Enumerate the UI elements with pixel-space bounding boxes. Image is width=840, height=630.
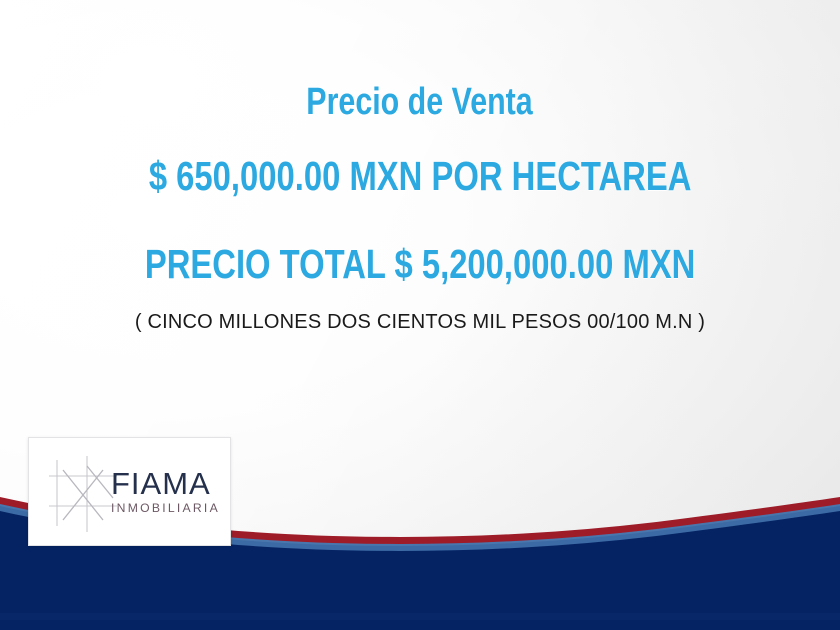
logo-brand-text: FIAMA	[111, 468, 229, 499]
price-in-words: ( CINCO MILLONES DOS CIENTOS MIL PESOS 0…	[0, 308, 840, 336]
crossed-lines-abstract-mark-icon	[47, 454, 121, 532]
slide-canvas: Precio de Venta $ 650,000.00 MXN POR HEC…	[0, 0, 840, 630]
price-per-hectare: $ 650,000.00 MXN POR HECTAREA	[0, 152, 840, 200]
price-total-text: PRECIO TOTAL $ 5,200,000.00 MXN	[145, 240, 696, 288]
logo-wordmark: FIAMA INMOBILIARIA	[111, 468, 229, 515]
logo-inner: FIAMA INMOBILIARIA	[29, 438, 230, 545]
logo-tagline-text: INMOBILIARIA	[111, 501, 229, 515]
logo-card: FIAMA INMOBILIARIA	[28, 437, 231, 546]
price-total: PRECIO TOTAL $ 5,200,000.00 MXN	[0, 240, 840, 288]
background-highlight-top-left	[0, 0, 360, 250]
wave-lighter-band	[0, 613, 840, 620]
page-title-text: Precio de Venta	[307, 80, 533, 124]
price-per-hectare-text: $ 650,000.00 MXN POR HECTAREA	[149, 152, 692, 200]
page-title: Precio de Venta	[0, 80, 840, 124]
